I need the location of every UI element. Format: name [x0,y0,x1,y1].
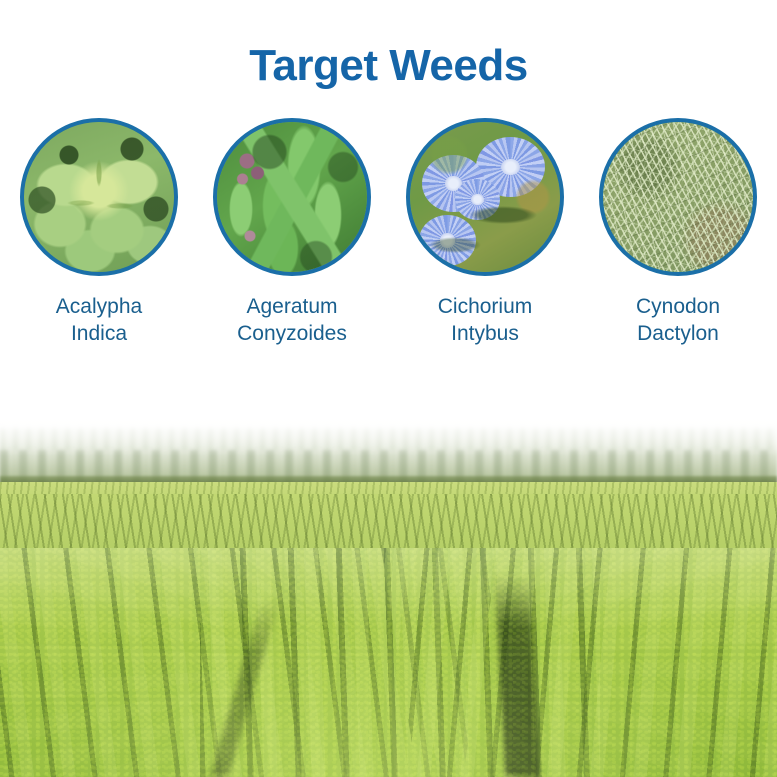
plant-photo-icon [217,122,367,272]
weed-card-acalypha-indica[interactable]: Acalypha Indica [10,118,188,347]
weed-label-acalypha-indica: Acalypha Indica [56,293,142,347]
plant-photo-icon [603,122,753,272]
weed-image-ageratum-conyzoides [213,118,371,276]
weed-card-cynodon-dactylon[interactable]: Cynodon Dactylon [589,118,767,347]
page-title: Target Weeds [0,40,777,92]
chicory-flower-icon [455,179,500,220]
weed-card-cichorium-intybus[interactable]: Cichorium Intybus [396,118,574,347]
plant-photo-icon [24,122,174,272]
weed-label-ageratum-conyzoides: Ageratum Conyzoides [237,293,347,347]
plant-photo-icon [410,122,560,272]
target-weeds-poster: Target Weeds Acalypha Indica Ageratum Co… [0,0,777,777]
weed-image-acalypha-indica [20,118,178,276]
weed-label-cichorium-intybus: Cichorium Intybus [438,293,533,347]
weed-list: Acalypha Indica Ageratum Conyzoides Cich… [0,118,777,347]
weed-image-cynodon-dactylon [599,118,757,276]
weed-label-cynodon-dactylon: Cynodon Dactylon [636,293,720,347]
weed-image-cichorium-intybus [406,118,564,276]
tea-leaf-texture [0,548,777,777]
chicory-flower-icon [419,215,476,266]
weed-card-ageratum-conyzoides[interactable]: Ageratum Conyzoides [203,118,381,347]
tea-plantation-photo [0,398,777,777]
chicory-flower-icon [422,155,485,212]
chicory-flower-icon [476,137,545,197]
